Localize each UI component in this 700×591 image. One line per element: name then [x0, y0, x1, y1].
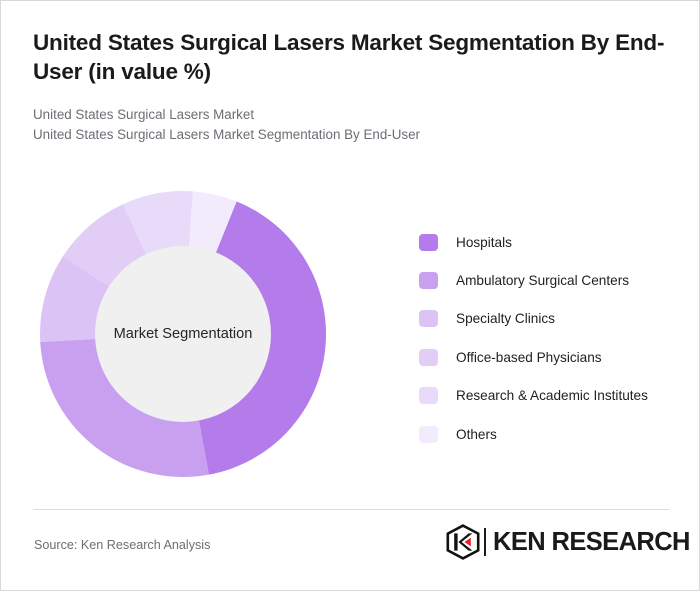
brand-logo: KEN RESEARCH [446, 523, 690, 561]
chart-card: United States Surgical Lasers Market Seg… [0, 0, 700, 591]
legend-item-label: Specialty Clinics [456, 311, 555, 326]
legend-swatch-icon [419, 234, 438, 251]
legend-swatch-icon [419, 426, 438, 443]
chart-header: United States Surgical Lasers Market Seg… [33, 29, 673, 145]
legend-swatch-icon [419, 272, 438, 289]
legend-item-label: Hospitals [456, 235, 512, 250]
legend-item-label: Ambulatory Surgical Centers [456, 273, 629, 288]
legend-item-label: Office-based Physicians [456, 350, 602, 365]
legend-item[interactable]: Others [419, 415, 681, 453]
source-note: Source: Ken Research Analysis [34, 538, 210, 552]
legend-item[interactable]: Ambulatory Surgical Centers [419, 261, 681, 299]
breadcrumb-level-2: United States Surgical Lasers Market Seg… [33, 125, 673, 145]
legend-item-label: Others [456, 427, 497, 442]
legend-swatch-icon [419, 387, 438, 404]
page-title: United States Surgical Lasers Market Seg… [33, 29, 673, 87]
donut-chart-svg [40, 191, 326, 477]
legend-item-label: Research & Academic Institutes [456, 388, 648, 403]
ken-research-hex-k-icon [446, 524, 480, 560]
legend-item[interactable]: Specialty Clinics [419, 300, 681, 338]
legend-item[interactable]: Hospitals [419, 223, 681, 261]
legend-item[interactable]: Office-based Physicians [419, 338, 681, 376]
legend-item[interactable]: Research & Academic Institutes [419, 377, 681, 415]
donut-hole [95, 246, 271, 422]
breadcrumb: United States Surgical Lasers Market Uni… [33, 105, 673, 146]
brand-divider [484, 528, 486, 556]
chart-legend: HospitalsAmbulatory Surgical CentersSpec… [419, 223, 681, 453]
legend-swatch-icon [419, 310, 438, 327]
breadcrumb-level-1: United States Surgical Lasers Market [33, 105, 673, 125]
brand-name: KEN RESEARCH [493, 528, 690, 557]
donut-chart: Market Segmentation [40, 191, 326, 477]
footer-divider [33, 509, 669, 510]
legend-swatch-icon [419, 349, 438, 366]
